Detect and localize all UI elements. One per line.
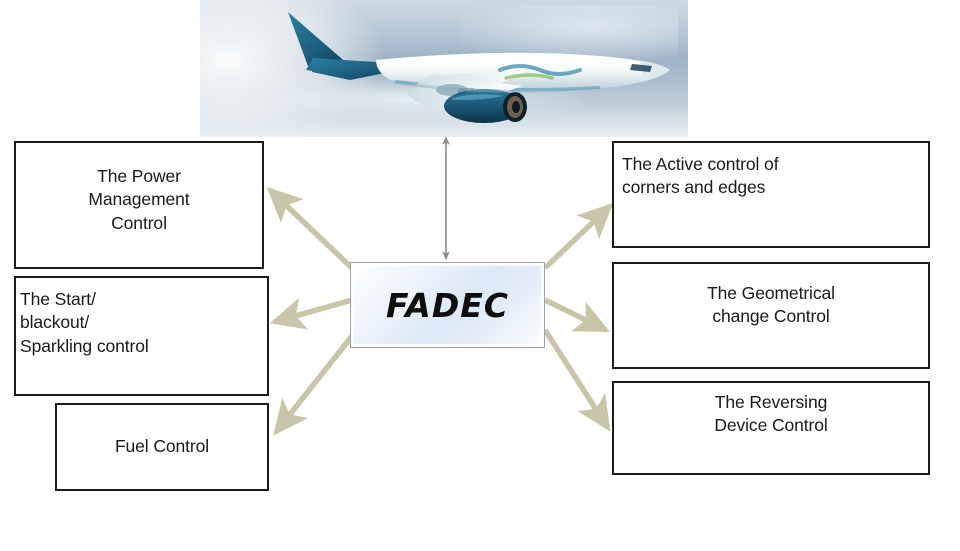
box-active-control-corners-edges[interactable]: The Active control of corners and edges xyxy=(612,141,930,248)
box-power-management-control[interactable]: The Power Management Control xyxy=(14,141,264,269)
arrow-to-fuel-control xyxy=(276,336,352,432)
center-node-fadec-label: FADEC xyxy=(386,286,509,325)
box-start-blackout-sparkling-control-label: The Start/ blackout/ Sparkling control xyxy=(16,278,267,358)
box-reversing-device-control[interactable]: The Reversing Device Control xyxy=(612,381,930,475)
airliner-photo xyxy=(200,0,688,137)
airplane-illustration xyxy=(200,0,688,137)
box-fuel-control[interactable]: Fuel Control xyxy=(55,403,269,491)
center-node-fadec[interactable]: FADEC xyxy=(350,262,545,348)
box-reversing-device-control-label: The Reversing Device Control xyxy=(614,383,928,438)
box-power-management-control-label: The Power Management Control xyxy=(16,143,262,235)
box-geometrical-change-control-label: The Geometrical change Control xyxy=(614,264,928,329)
diagram-canvas: The Power Management Control The Start/ … xyxy=(0,0,960,551)
box-geometrical-change-control[interactable]: The Geometrical change Control xyxy=(612,262,930,369)
arrow-to-power-management xyxy=(270,190,352,268)
arrow-to-active-control xyxy=(545,206,610,268)
box-start-blackout-sparkling-control[interactable]: The Start/ blackout/ Sparkling control xyxy=(14,276,269,396)
arrow-to-geometrical-change xyxy=(545,300,606,330)
box-active-control-corners-edges-label: The Active control of corners and edges xyxy=(614,143,928,200)
arrow-to-start-blackout xyxy=(274,300,352,322)
arrow-to-reversing-device xyxy=(545,330,608,428)
box-fuel-control-label: Fuel Control xyxy=(57,405,267,458)
